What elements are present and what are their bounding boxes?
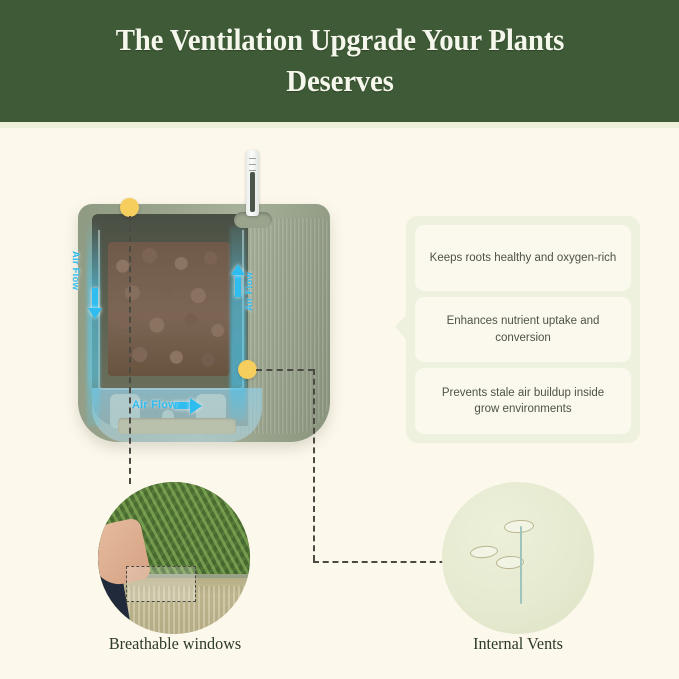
benefit-card[interactable]: Enhances nutrient uptake and conversion bbox=[415, 297, 631, 363]
vent-oval bbox=[504, 519, 535, 534]
detail-caption-breathable-windows: Breathable windows bbox=[61, 634, 289, 654]
water-level-gauge bbox=[246, 150, 259, 216]
airflow-label-right: Air Flow bbox=[244, 272, 255, 311]
header-divider bbox=[0, 122, 679, 128]
planter-base-bracket bbox=[118, 418, 236, 434]
panel-pointer-icon bbox=[395, 314, 407, 340]
gauge-float bbox=[250, 172, 255, 212]
gauge-tick bbox=[249, 170, 256, 171]
breathable-window-highlight bbox=[126, 566, 196, 602]
benefit-card[interactable]: Prevents stale air buildup inside grow e… bbox=[415, 368, 631, 434]
vent-oval bbox=[469, 545, 498, 560]
soil-pebble-medium bbox=[108, 242, 230, 376]
product-illustration: Air Flow Air Flow Air Flow bbox=[78, 196, 333, 446]
benefits-panel: Keeps roots healthy and oxygen-rich Enha… bbox=[406, 216, 640, 443]
benefit-card-text: Prevents stale air buildup inside grow e… bbox=[429, 385, 617, 418]
detail-circle-internal-vents bbox=[442, 482, 594, 634]
airflow-arrow-up-stem bbox=[235, 275, 241, 297]
benefit-card[interactable]: Keeps roots healthy and oxygen-rich bbox=[415, 225, 631, 291]
airflow-arrow-right-icon bbox=[190, 398, 202, 414]
gauge-tick bbox=[249, 164, 256, 165]
infographic-root: The Ventilation Upgrade Your Plants Dese… bbox=[0, 0, 679, 679]
airflow-arrow-up-icon bbox=[231, 264, 245, 275]
detail-caption-internal-vents: Internal Vents bbox=[404, 634, 632, 654]
airflow-glow-left bbox=[87, 220, 100, 426]
hotspot-dot-breathable-windows[interactable] bbox=[120, 198, 139, 217]
airflow-label-bottom: Air Flow bbox=[132, 399, 177, 411]
vent-seam-line bbox=[520, 526, 522, 604]
airflow-label-left: Air Flow bbox=[70, 251, 81, 290]
benefit-card-text: Keeps roots healthy and oxygen-rich bbox=[430, 250, 617, 267]
connector-line-right-vertical bbox=[313, 369, 315, 561]
benefit-card-list: Keeps roots healthy and oxygen-rich Enha… bbox=[415, 225, 631, 434]
page-title: The Ventilation Upgrade Your Plants Dese… bbox=[61, 20, 619, 102]
header-banner: The Ventilation Upgrade Your Plants Dese… bbox=[0, 0, 679, 122]
airflow-glow-right bbox=[230, 226, 246, 420]
detail-circle-breathable-windows bbox=[98, 482, 250, 634]
connector-line-right-horizontal-top bbox=[256, 369, 314, 371]
benefit-card-text: Enhances nutrient uptake and conversion bbox=[429, 313, 617, 346]
hotspot-dot-internal-vents[interactable] bbox=[238, 360, 257, 379]
gauge-tick bbox=[249, 158, 256, 159]
airflow-arrow-down-icon bbox=[88, 308, 102, 319]
airflow-arrow-down-stem bbox=[92, 288, 98, 310]
connector-line-left-vertical bbox=[129, 216, 131, 484]
